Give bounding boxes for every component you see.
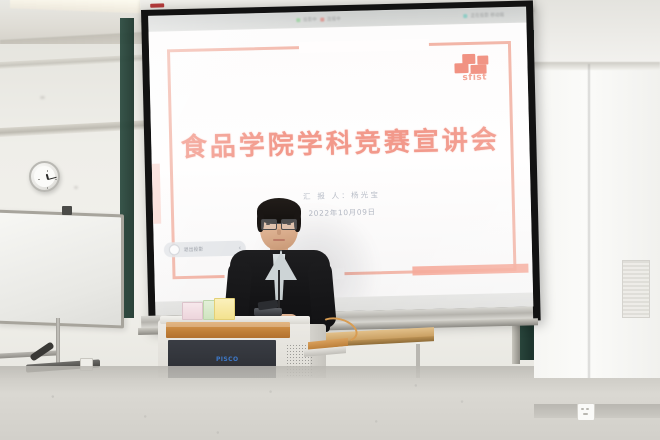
lens — [281, 219, 297, 230]
lens — [261, 219, 277, 230]
os-status-right: 正在投影 移动端 — [464, 12, 505, 19]
toolbar-label: 退出投影 — [184, 246, 204, 252]
right-wall-lip — [534, 62, 660, 70]
podium-brand-label: PISCO — [216, 356, 238, 363]
eyeglasses-icon — [261, 219, 297, 228]
clock-face — [34, 166, 55, 187]
outlet-slot — [583, 413, 588, 415]
wall-vent — [622, 260, 650, 318]
mouth — [273, 239, 285, 241]
outlet-slot — [581, 408, 584, 410]
whiteboard-stand-post — [56, 318, 60, 368]
wall-clock — [29, 161, 60, 192]
slide-logo-text: sfist — [457, 72, 493, 83]
nose — [277, 229, 281, 235]
os-status-right-label: 正在投影 移动端 — [471, 12, 505, 19]
right-wall-header — [534, 0, 660, 66]
housing-indicator — [150, 3, 164, 7]
os-status-left: 投影中 连接中 — [296, 16, 341, 23]
logo-block-icon — [454, 63, 468, 73]
whiteboard-clip — [62, 206, 72, 215]
projection-screen: 投影中 连接中 正在投影 移动端 — [141, 0, 541, 329]
whiteboard — [0, 210, 124, 329]
wall-outlet-right — [577, 403, 595, 421]
yellow-box — [214, 298, 235, 320]
slide-accent-bar — [412, 264, 528, 276]
classroom-photo: 投影中 连接中 正在投影 移动端 — [0, 0, 660, 440]
clock-tick — [47, 170, 48, 172]
wall-mark — [74, 186, 78, 189]
clock-tick — [38, 179, 40, 180]
toolbar-avatar-icon — [169, 244, 180, 255]
status-dot-icon — [296, 18, 300, 22]
skirting-board-right — [534, 404, 660, 418]
status-dot-icon — [320, 18, 324, 22]
clock-tick — [55, 179, 57, 180]
os-status-left-extra: 连接中 — [327, 16, 341, 22]
projection-surface: 投影中 连接中 正在投影 移动端 — [148, 7, 533, 316]
os-status-left-label: 投影中 — [303, 17, 317, 23]
logo-block-icon — [477, 56, 488, 65]
pink-box — [182, 302, 203, 320]
slide-logo: sfist — [453, 53, 494, 84]
wall-mark — [40, 96, 45, 99]
podium-wood-highlight — [166, 322, 290, 327]
status-dot-icon — [464, 14, 468, 18]
slide: sfist 食品学院学科竞赛宣讲会 汇 报 人：杨光宝 2022年10月09日 … — [149, 23, 533, 302]
clock-tick — [47, 187, 48, 189]
outlet-slot — [586, 408, 589, 410]
